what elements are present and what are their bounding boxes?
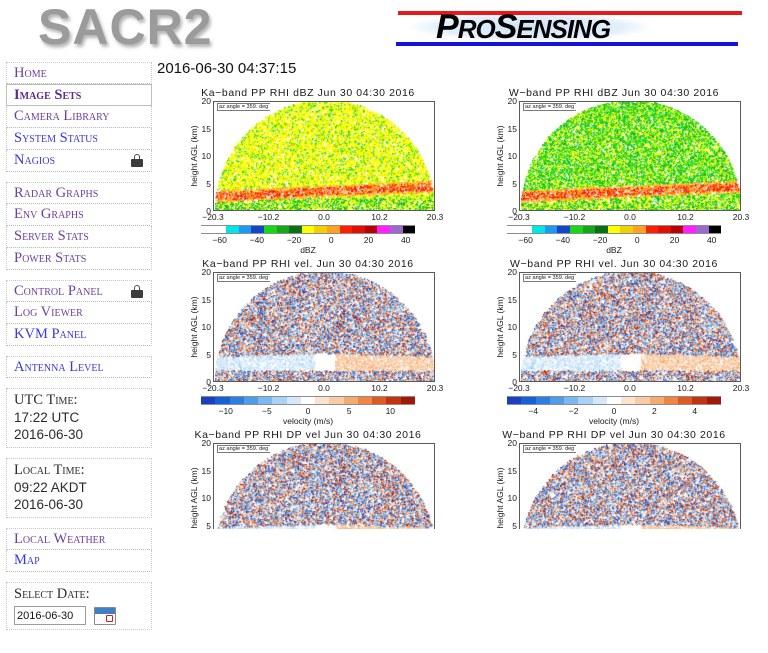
colorbar-swatch: [230, 397, 244, 404]
utc-time-value: 17:22 UTC: [14, 409, 144, 426]
colorbar-swatch: [327, 226, 340, 233]
colorbar-swatch: [390, 226, 403, 233]
sidebar-item-control-panel[interactable]: Control Panel: [6, 280, 152, 302]
y-tick-label: 10: [177, 493, 211, 503]
colorbar-swatch: [264, 226, 277, 233]
colorbar-swatch: [678, 397, 692, 404]
colorbar-tick-label: 0: [306, 406, 311, 416]
colorbar-swatch: [707, 397, 721, 404]
select-date-input[interactable]: [14, 606, 86, 625]
azimuth-annotation: az angle = 359. deg: [217, 103, 270, 111]
colorbar-swatch: [608, 226, 621, 233]
calendar-icon[interactable]: [94, 607, 116, 625]
colorbar-swatch: [258, 397, 272, 404]
colorbar-gradient: [201, 225, 415, 234]
colorbar-tick-label: 40: [707, 235, 716, 245]
colorbar-swatch: [329, 397, 343, 404]
sidebar-item-power-stats[interactable]: Power Stats: [6, 248, 152, 270]
sidebar-item-log-viewer[interactable]: Log Viewer: [6, 302, 152, 324]
y-axis-ticks: 05101520: [481, 272, 517, 382]
colorbar-swatch: [201, 226, 214, 233]
colorbar-tick-label: −20: [287, 235, 301, 245]
y-tick-label: 10: [483, 493, 517, 503]
y-tick-label: 5: [177, 179, 211, 189]
colorbar-tick-label: −4: [528, 406, 538, 416]
plot-w-dp-vel[interactable]: W−band PP RHI DP vel Jun 30 04:30 2016he…: [461, 428, 767, 529]
colorbar: −10−50510velocity (m/s): [155, 392, 461, 428]
colorbar-tick-label: −5: [262, 406, 272, 416]
colorbar: −60−40−2002040dBZ: [155, 221, 461, 257]
logo-wordmark: PROSENSING: [436, 8, 610, 47]
local-date-value: 2016-06-30: [14, 496, 144, 513]
colorbar-tick-label: −60: [212, 235, 226, 245]
colorbar-tick-label: 4: [692, 406, 697, 416]
colorbar-swatch: [386, 397, 400, 404]
colorbar-gradient: [201, 396, 415, 405]
y-tick-label: 15: [483, 124, 517, 134]
colorbar-swatch: [595, 226, 608, 233]
plot-canvas-frame: az angle = 359. deg: [519, 101, 741, 211]
y-tick-label: 10: [483, 151, 517, 161]
y-tick-label: 5: [483, 350, 517, 360]
colorbar-tick-label: 2: [652, 406, 657, 416]
y-tick-label: 5: [483, 521, 517, 530]
sidebar-item-kvm-panel[interactable]: KVM Panel: [6, 324, 152, 346]
colorbar-swatch: [377, 226, 390, 233]
radar-rhi-image: [215, 272, 435, 381]
select-date-title: Select Date:: [14, 586, 144, 603]
colorbar-tick-label: −40: [250, 235, 264, 245]
y-tick-label: 5: [177, 521, 211, 530]
current-timestamp: 2016-06-30 04:37:15: [157, 60, 296, 77]
colorbar-swatch: [621, 397, 635, 404]
colorbar-swatch: [507, 226, 520, 233]
plot-axes: height AGL (km)05101520az angle = 359. d…: [481, 101, 747, 221]
utc-date-value: 2016-06-30: [14, 426, 144, 443]
colorbar-swatch: [403, 226, 416, 233]
y-axis-ticks: 05101520: [175, 443, 211, 529]
azimuth-annotation: az angle = 359. deg: [217, 445, 270, 453]
date-picker-row: [14, 606, 144, 625]
main-content: 2016-06-30 04:37:15 Ka−band PP RHI dBZ J…: [155, 56, 768, 653]
colorbar-swatch: [226, 226, 239, 233]
colorbar-swatch: [315, 397, 329, 404]
y-axis-ticks: 05101520: [175, 272, 211, 382]
calendar-icon-day-marker: [106, 615, 113, 622]
y-tick-label: 20: [177, 96, 211, 106]
colorbar-swatch: [239, 226, 252, 233]
colorbar-swatch: [564, 397, 578, 404]
y-tick-label: 10: [483, 322, 517, 332]
colorbar-swatch: [650, 397, 664, 404]
colorbar-swatch: [287, 397, 301, 404]
colorbar-swatch: [215, 397, 229, 404]
colorbar-swatch: [521, 397, 535, 404]
colorbar-tick-label: −10: [218, 406, 232, 416]
colorbar-swatch: [251, 226, 264, 233]
colorbar-swatch: [671, 226, 684, 233]
sidebar-item-nagios[interactable]: Nagios: [6, 150, 152, 172]
colorbar-swatch: [358, 397, 372, 404]
sidebar-nav-groups: HomeImage SetsCamera LibrarySystem Statu…: [6, 62, 152, 378]
sidebar-nav-group: Antenna Level: [6, 356, 152, 378]
plot-ka-dp-vel[interactable]: Ka−band PP RHI DP vel Jun 30 04:30 2016h…: [155, 428, 461, 529]
sidebar-item-image-sets[interactable]: Image Sets: [6, 84, 152, 106]
sidebar-select-date-box: Select Date:: [6, 582, 152, 630]
colorbar-swatch: [352, 226, 365, 233]
calendar-icon-header: [95, 608, 115, 614]
sidebar-item-env-graphs[interactable]: Env Graphs: [6, 204, 152, 226]
colorbar-tick-label: 0: [612, 406, 617, 416]
sidebar-links-group: Local Weather Map: [6, 528, 152, 572]
colorbar-swatch: [545, 226, 558, 233]
plot-canvas-frame: az angle = 359. deg: [519, 272, 741, 382]
plot-canvas-frame: az angle = 359. deg: [213, 272, 435, 382]
colorbar-swatch: [372, 397, 386, 404]
prosensing-logo: PROSENSING: [376, 2, 760, 52]
colorbar-swatch: [532, 226, 545, 233]
colorbar-swatch: [664, 397, 678, 404]
colorbar-swatch: [314, 226, 327, 233]
y-tick-label: 15: [177, 124, 211, 134]
colorbar-label: velocity (m/s): [507, 416, 721, 426]
colorbar-tick-label: 20: [670, 235, 679, 245]
site-title: SACR2: [38, 0, 212, 56]
colorbar-label: dBZ: [507, 245, 721, 255]
colorbar-swatch: [683, 226, 696, 233]
plot-canvas-frame: az angle = 359. deg: [213, 443, 435, 529]
colorbar-tick-label: 10: [386, 406, 395, 416]
plot-axes: height AGL (km)05101520az angle = 359. d…: [175, 101, 441, 221]
colorbar-swatch: [578, 397, 592, 404]
colorbar-swatch: [344, 397, 358, 404]
lock-icon: [131, 285, 143, 298]
y-tick-label: 15: [483, 466, 517, 476]
colorbar-tick-label: 0: [329, 235, 334, 245]
lock-icon: [131, 154, 143, 167]
colorbar-tick-label: 5: [347, 406, 352, 416]
local-time-title: Local Time:: [14, 462, 144, 479]
colorbar-label: dBZ: [201, 245, 415, 255]
colorbar-swatch: [646, 226, 659, 233]
colorbar-tick-label: 40: [401, 235, 410, 245]
plot-axes: height AGL (km)05101520az angle = 359. d…: [481, 443, 747, 529]
colorbar-tick-label: 0: [635, 235, 640, 245]
colorbar-tick-label: −20: [593, 235, 607, 245]
colorbar-swatch: [620, 226, 633, 233]
colorbar-swatch: [633, 226, 646, 233]
sidebar-item-local-weather[interactable]: Local Weather: [6, 528, 152, 550]
colorbar-swatch: [272, 397, 286, 404]
radar-rhi-image: [521, 443, 741, 529]
plot-row: Ka−band PP RHI vel. Jun 30 04:30 2016hei…: [155, 257, 768, 428]
y-tick-label: 15: [177, 295, 211, 305]
azimuth-annotation: az angle = 359. deg: [523, 445, 576, 453]
sidebar-item-server-stats[interactable]: Server Stats: [6, 226, 152, 248]
colorbar-swatch: [593, 397, 607, 404]
colorbar-swatch: [289, 226, 302, 233]
plot-w-dbz[interactable]: W−band PP RHI dBZ Jun 30 04:30 2016heigh…: [461, 86, 767, 257]
colorbar-swatch: [607, 397, 621, 404]
colorbar-swatch: [520, 226, 533, 233]
plot-row: Ka−band PP RHI dBZ Jun 30 04:30 2016heig…: [155, 86, 768, 257]
sidebar-item-camera-library[interactable]: Camera Library: [6, 106, 152, 128]
y-tick-label: 10: [177, 151, 211, 161]
sidebar-item-map[interactable]: Map: [6, 550, 152, 572]
colorbar-swatch: [635, 397, 649, 404]
colorbar-tick-label: 20: [364, 235, 373, 245]
colorbar-swatch: [557, 226, 570, 233]
plot-canvas-frame: az angle = 359. deg: [519, 443, 741, 529]
y-tick-label: 20: [483, 267, 517, 277]
azimuth-annotation: az angle = 359. deg: [523, 274, 576, 282]
colorbar-swatch: [507, 397, 521, 404]
sidebar-item-antenna-level[interactable]: Antenna Level: [6, 356, 152, 378]
y-tick-label: 15: [483, 295, 517, 305]
colorbar-swatch: [550, 397, 564, 404]
y-tick-label: 5: [177, 350, 211, 360]
plot-axes: height AGL (km)05101520az angle = 359. d…: [175, 443, 441, 529]
colorbar-swatch: [365, 226, 378, 233]
y-axis-ticks: 05101520: [175, 101, 211, 211]
colorbar-label: velocity (m/s): [201, 416, 415, 426]
colorbar-swatch: [696, 226, 709, 233]
radar-rhi-image: [521, 272, 741, 381]
sidebar-utc-time-box: UTC Time: 17:22 UTC 2016-06-30: [6, 388, 152, 448]
y-axis-ticks: 05101520: [481, 443, 517, 529]
colorbar-swatch: [583, 226, 596, 233]
azimuth-annotation: az angle = 359. deg: [523, 103, 576, 111]
sidebar-nav-group: Control PanelLog ViewerKVM Panel: [6, 280, 152, 346]
colorbar-gradient: [507, 225, 721, 234]
colorbar: −60−40−2002040dBZ: [461, 221, 767, 257]
plot-grid: Ka−band PP RHI dBZ Jun 30 04:30 2016heig…: [155, 86, 768, 529]
sidebar-item-system-status[interactable]: System Status: [6, 128, 152, 150]
colorbar-swatch: [570, 226, 583, 233]
colorbar-tick-label: −60: [518, 235, 532, 245]
plot-ka-vel[interactable]: Ka−band PP RHI vel. Jun 30 04:30 2016hei…: [155, 257, 461, 428]
radar-rhi-image: [215, 443, 435, 529]
colorbar-swatch: [244, 397, 258, 404]
y-tick-label: 20: [483, 438, 517, 448]
colorbar-swatch: [201, 397, 215, 404]
azimuth-annotation: az angle = 359. deg: [217, 274, 270, 282]
plot-w-vel[interactable]: W−band PP RHI vel. Jun 30 04:30 2016heig…: [461, 257, 767, 428]
colorbar-swatch: [536, 397, 550, 404]
y-tick-label: 20: [177, 267, 211, 277]
colorbar-swatch: [658, 226, 671, 233]
y-tick-label: 20: [483, 96, 517, 106]
colorbar-swatch: [214, 226, 227, 233]
page-header: SACR2 PROSENSING: [0, 0, 768, 56]
local-time-value: 09:22 AKDT: [14, 479, 144, 496]
y-tick-label: 5: [483, 179, 517, 189]
plot-canvas-frame: az angle = 359. deg: [213, 101, 435, 211]
y-axis-ticks: 05101520: [481, 101, 517, 211]
radar-rhi-image: [215, 101, 435, 210]
colorbar: −4−2024velocity (m/s): [461, 392, 767, 428]
colorbar-swatch: [401, 397, 415, 404]
colorbar-swatch: [301, 397, 315, 404]
colorbar-swatch: [709, 226, 722, 233]
colorbar-swatch: [340, 226, 353, 233]
colorbar-swatch: [302, 226, 315, 233]
plot-ka-dbz[interactable]: Ka−band PP RHI dBZ Jun 30 04:30 2016heig…: [155, 86, 461, 257]
sidebar-item-home[interactable]: Home: [6, 62, 152, 84]
sidebar: HomeImage SetsCamera LibrarySystem Statu…: [6, 62, 152, 640]
plot-axes: height AGL (km)05101520az angle = 359. d…: [175, 272, 441, 392]
colorbar-gradient: [507, 396, 721, 405]
y-tick-label: 10: [177, 322, 211, 332]
colorbar-swatch: [692, 397, 706, 404]
utc-time-title: UTC Time:: [14, 392, 144, 409]
sidebar-item-radar-graphs[interactable]: Radar Graphs: [6, 182, 152, 204]
colorbar-swatch: [277, 226, 290, 233]
colorbar-tick-label: −40: [556, 235, 570, 245]
plot-axes: height AGL (km)05101520az angle = 359. d…: [481, 272, 747, 392]
sidebar-local-time-box: Local Time: 09:22 AKDT 2016-06-30: [6, 458, 152, 518]
sidebar-nav-group: Radar GraphsEnv GraphsServer StatsPower …: [6, 182, 152, 270]
y-tick-label: 15: [177, 466, 211, 476]
plot-row: Ka−band PP RHI DP vel Jun 30 04:30 2016h…: [155, 428, 768, 529]
colorbar-tick-label: −2: [569, 406, 579, 416]
y-tick-label: 20: [177, 438, 211, 448]
sidebar-nav-group: HomeImage SetsCamera LibrarySystem Statu…: [6, 62, 152, 172]
radar-rhi-image: [521, 101, 741, 210]
